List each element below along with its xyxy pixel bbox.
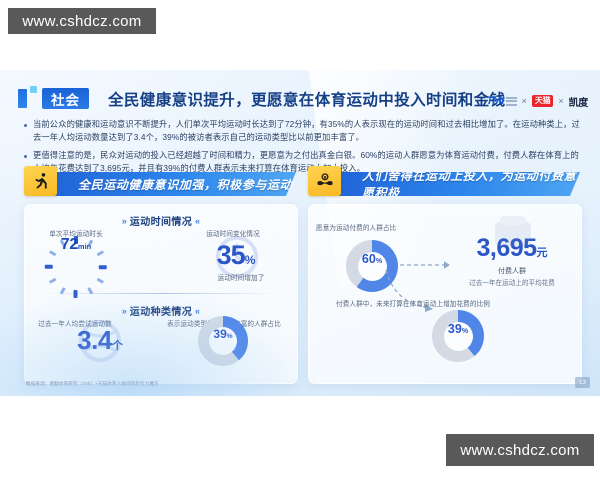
slide-header: 社会 全民健康意识提升，更愿意在体育运动中投入时间和金钱 TMi × 天猫 × …	[0, 86, 600, 112]
section-banner-right-text: 人们舍得在运动上投入，为运动付费意愿积极	[362, 167, 580, 201]
bullet-dot-icon	[24, 155, 27, 158]
bullet-item: 当前公众的健康和运动意识不断提升，人们单次平均运动时长达到了72分钟，有35%的…	[24, 118, 580, 144]
variety-value: 39	[213, 327, 226, 341]
caption-time-change-sub: 运动时间增加了	[176, 272, 306, 282]
section-banner-left-text: 全民运动健康意识加强，积极参与运动	[78, 176, 292, 193]
bullet-item: 更值得注意的是，民众对运动的投入已经超越了时间和精力，更愿意为之付出真金白银。6…	[24, 149, 580, 175]
variety-donut-label: 39%	[209, 327, 237, 355]
slide-canvas: 社会 全民健康意识提升，更愿意在体育运动中投入时间和金钱 TMi × 天猫 × …	[0, 70, 600, 396]
runner-badge-icon	[24, 166, 57, 196]
duration-value: 72	[61, 236, 78, 254]
category-tag: 社会	[42, 88, 89, 109]
subsection-title-type: » 运动种类情况 »	[25, 303, 297, 318]
bullet-text: 当前公众的健康和运动意识不断提升，人们单次平均运动时长达到了72分钟，有35%的…	[33, 118, 580, 144]
header-accent-bar	[18, 89, 27, 108]
tmi-logo-bars	[506, 97, 517, 106]
footnote: 数据来源：德勤体育研究（TMi）×天猫体育人群调研及引力魔方	[26, 381, 159, 387]
ghost-ball-icon	[76, 317, 124, 365]
duration-value-group: 72 min	[45, 236, 107, 298]
ghost-wallet-icon	[492, 212, 534, 252]
watermark-top: www.cshdcz.com	[8, 8, 156, 34]
bullet-text: 更值得注意的是，民众对运动的投入已经超越了时间和精力，更愿意为之付出真金白银。6…	[33, 149, 580, 175]
page-title: 全民健康意识提升，更愿意在体育运动中投入时间和金钱	[108, 87, 506, 110]
tmall-logo: 天猫	[532, 95, 553, 106]
time-change-metric: 35%	[176, 240, 296, 271]
section-banner-right-ribbon: 人们舍得在运动上投入，为运动付费意愿积极	[330, 172, 580, 196]
section-banner-left: 全民运动健康意识加强，积极参与运动	[24, 172, 296, 196]
bullet-dot-icon	[24, 124, 27, 127]
time-change-unit: %	[245, 253, 256, 267]
future-increase-donut-chart: 39%	[432, 310, 484, 362]
future-increase-unit: %	[462, 328, 468, 335]
future-increase-donut-label: 39%	[444, 322, 473, 351]
variety-unit: %	[227, 333, 233, 340]
logo-group: TMi × 天猫 × 凯度	[486, 92, 588, 110]
avg-spend-caption-2: 过去一年在运动上的平均花费	[442, 277, 582, 287]
tmi-logo-text: TMi	[486, 95, 503, 107]
tmi-logo: TMi	[486, 95, 516, 107]
willing-pay-unit: %	[376, 258, 382, 265]
duration-unit: min	[78, 242, 91, 251]
caption-time-change: 运动时间变化情况	[168, 228, 298, 238]
money-badge-icon	[308, 166, 341, 196]
summary-bullets: 当前公众的健康和运动意识不断提升，人们单次平均运动时长达到了72分钟，有35%的…	[24, 118, 580, 179]
chevron-right-icon: »	[122, 306, 125, 316]
chevron-left-icon: »	[197, 216, 200, 226]
avg-spend-caption-1: 付费人群	[442, 266, 582, 276]
logo-separator-2: ×	[558, 96, 563, 106]
kantar-logo: 凯度	[569, 94, 588, 109]
sport-count-metric: 3.4个	[40, 325, 160, 356]
subsection-title-time-text: 运动时间情况	[130, 213, 192, 228]
caption-future-increase: 付费人群中，未来打算在体育运动上增加花费的比例	[336, 298, 556, 308]
caption-willing-pay: 愿意为运动付费的人群占比	[316, 222, 436, 232]
subsection-title-type-text: 运动种类情况	[130, 303, 192, 318]
willing-pay-donut-label: 60%	[358, 252, 387, 281]
future-increase-value: 39	[448, 322, 462, 336]
avg-spend-unit: 元	[537, 247, 548, 259]
chevron-right-icon: »	[122, 216, 125, 226]
chevron-left-icon: »	[197, 306, 200, 316]
subsection-title-time: » 运动时间情况 »	[25, 213, 297, 228]
time-change-value: 35	[217, 240, 245, 270]
section-banner-left-ribbon: 全民运动健康意识加强，积极参与运动	[46, 172, 296, 196]
logo-separator-1: ×	[522, 96, 527, 106]
avg-spend-metric: 3,695元 付费人群 过去一年在运动上的平均花费	[442, 234, 582, 287]
duration-clock-dial: 72 min	[45, 236, 107, 298]
header-accent-square	[30, 86, 37, 93]
watermark-bottom: www.cshdcz.com	[446, 434, 594, 466]
willing-pay-value: 60	[362, 252, 376, 266]
section-banner-right: 人们舍得在运动上投入，为运动付费意愿积极	[308, 172, 580, 196]
page-number: 13	[575, 377, 590, 388]
variety-donut-chart: 39%	[198, 316, 248, 366]
